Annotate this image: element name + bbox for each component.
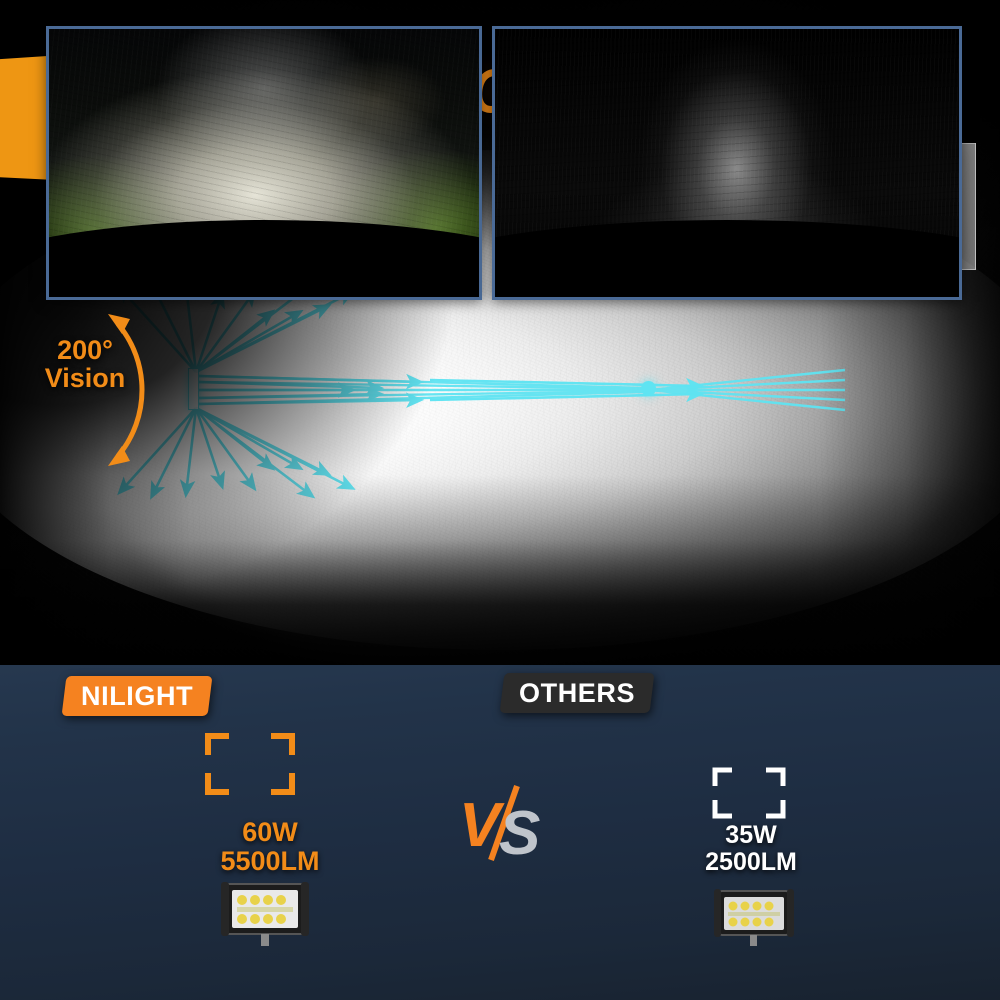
vision-angle-label: 200° Vision bbox=[24, 336, 146, 392]
nilight-watts: 60W bbox=[185, 818, 355, 847]
nilight-lumens: 5500LM bbox=[185, 847, 355, 876]
others-watts: 35W bbox=[666, 822, 836, 849]
vehicle-hood-silhouette bbox=[46, 220, 482, 300]
light-source-marker bbox=[188, 368, 199, 410]
badge-nilight-label: NILIGHT bbox=[81, 676, 193, 716]
led-light-pod-nilight bbox=[219, 880, 311, 948]
beam-convergence-point bbox=[641, 381, 656, 396]
vision-angle-text: Vision bbox=[24, 364, 146, 392]
comparison-panel-nilight bbox=[46, 26, 482, 300]
focus-bracket-icon-nilight bbox=[205, 733, 295, 795]
versus-label: V S bbox=[455, 782, 555, 864]
vehicle-hood-silhouette bbox=[492, 220, 962, 300]
badge-others: OTHERS bbox=[500, 673, 655, 713]
comparison-panel-others bbox=[492, 26, 962, 300]
metrics-nilight: 60W 5500LM bbox=[185, 818, 355, 876]
metrics-others: 35W 2500LM bbox=[666, 822, 836, 876]
product-infographic: UPGRADE BRIGHTER & WIDER 200° Vision UP … bbox=[0, 0, 1000, 1000]
vision-angle-value: 200° bbox=[24, 336, 146, 364]
focus-bracket-icon-others bbox=[712, 767, 786, 819]
led-light-pod-others bbox=[713, 888, 795, 948]
others-lumens: 2500LM bbox=[666, 849, 836, 876]
badge-nilight: NILIGHT bbox=[62, 676, 213, 716]
versus-s: S bbox=[499, 799, 540, 864]
badge-others-label: OTHERS bbox=[519, 673, 635, 713]
